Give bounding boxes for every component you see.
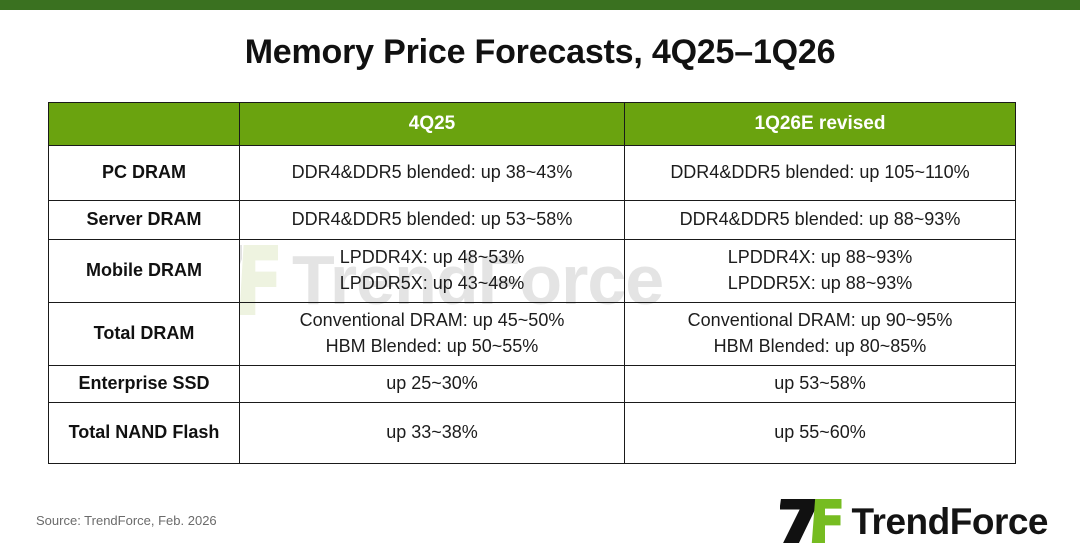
column-header-blank bbox=[49, 103, 240, 146]
cell-pc-dram-4q25: DDR4&DDR5 blended: up 38~43% bbox=[240, 146, 625, 201]
cell-line: LPDDR5X: up 43~48% bbox=[240, 271, 624, 297]
cell-line: Conventional DRAM: up 45~50% bbox=[240, 308, 624, 334]
cell-line: up 33~38% bbox=[240, 420, 624, 446]
logo-seven-shape-icon bbox=[780, 499, 816, 543]
row-label-line: Flash bbox=[172, 422, 219, 442]
cell-line: DDR4&DDR5 blended: up 105~110% bbox=[625, 160, 1015, 186]
cell-pc-dram-1q26e: DDR4&DDR5 blended: up 105~110% bbox=[625, 146, 1016, 201]
cell-line: LPDDR4X: up 88~93% bbox=[625, 245, 1015, 271]
cell-line: LPDDR4X: up 48~53% bbox=[240, 245, 624, 271]
table-row: Total DRAM Conventional DRAM: up 45~50% … bbox=[49, 303, 1016, 366]
cell-line: HBM Blended: up 50~55% bbox=[240, 334, 624, 360]
page-title: Memory Price Forecasts, 4Q25–1Q26 bbox=[0, 33, 1080, 72]
row-label-line: Total NAND bbox=[69, 422, 168, 442]
table-header: 4Q25 1Q26E revised bbox=[49, 103, 1016, 146]
row-label-total-dram: Total DRAM bbox=[49, 303, 240, 366]
row-label-pc-dram: PC DRAM bbox=[49, 146, 240, 201]
table-row: PC DRAM DDR4&DDR5 blended: up 38~43% DDR… bbox=[49, 146, 1016, 201]
row-label-enterprise-ssd: Enterprise SSD bbox=[49, 366, 240, 403]
cell-server-dram-1q26e: DDR4&DDR5 blended: up 88~93% bbox=[625, 201, 1016, 240]
cell-mobile-dram-1q26e: LPDDR4X: up 88~93% LPDDR5X: up 88~93% bbox=[625, 240, 1016, 303]
column-header-1q26e: 1Q26E revised bbox=[625, 103, 1016, 146]
trendforce-logo-icon bbox=[780, 497, 842, 545]
cell-line: LPDDR5X: up 88~93% bbox=[625, 271, 1015, 297]
cell-line: DDR4&DDR5 blended: up 38~43% bbox=[240, 160, 624, 186]
row-label-mobile-dram: Mobile DRAM bbox=[49, 240, 240, 303]
cell-line: up 25~30% bbox=[240, 371, 624, 397]
cell-server-dram-4q25: DDR4&DDR5 blended: up 53~58% bbox=[240, 201, 625, 240]
cell-total-nand-flash-4q25: up 33~38% bbox=[240, 403, 625, 464]
cell-line: Conventional DRAM: up 90~95% bbox=[625, 308, 1015, 334]
logo-wordmark: TrendForce bbox=[852, 503, 1049, 540]
row-label-total-nand-flash: Total NAND Flash bbox=[49, 403, 240, 464]
cell-line: up 55~60% bbox=[625, 420, 1015, 446]
slide-canvas: Memory Price Forecasts, 4Q25–1Q26 TrendF… bbox=[0, 0, 1080, 560]
cell-line: up 53~58% bbox=[625, 371, 1015, 397]
top-accent-bar bbox=[0, 0, 1080, 10]
source-note: Source: TrendForce, Feb. 2026 bbox=[36, 513, 217, 528]
cell-total-dram-1q26e: Conventional DRAM: up 90~95% HBM Blended… bbox=[625, 303, 1016, 366]
table-body: PC DRAM DDR4&DDR5 blended: up 38~43% DDR… bbox=[49, 146, 1016, 464]
cell-enterprise-ssd-4q25: up 25~30% bbox=[240, 366, 625, 403]
row-label-server-dram: Server DRAM bbox=[49, 201, 240, 240]
column-header-4q25: 4Q25 bbox=[240, 103, 625, 146]
cell-line: DDR4&DDR5 blended: up 88~93% bbox=[625, 207, 1015, 233]
memory-price-forecast-table: 4Q25 1Q26E revised PC DRAM DDR4&DDR5 ble… bbox=[48, 102, 1016, 464]
table-header-row: 4Q25 1Q26E revised bbox=[49, 103, 1016, 146]
table-row: Total NAND Flash up 33~38% up 55~60% bbox=[49, 403, 1016, 464]
cell-line: HBM Blended: up 80~85% bbox=[625, 334, 1015, 360]
table-row: Server DRAM DDR4&DDR5 blended: up 53~58%… bbox=[49, 201, 1016, 240]
table-row: Enterprise SSD up 25~30% up 53~58% bbox=[49, 366, 1016, 403]
table-row: Mobile DRAM LPDDR4X: up 48~53% LPDDR5X: … bbox=[49, 240, 1016, 303]
cell-line: DDR4&DDR5 blended: up 53~58% bbox=[240, 207, 624, 233]
cell-enterprise-ssd-1q26e: up 53~58% bbox=[625, 366, 1016, 403]
cell-mobile-dram-4q25: LPDDR4X: up 48~53% LPDDR5X: up 43~48% bbox=[240, 240, 625, 303]
cell-total-nand-flash-1q26e: up 55~60% bbox=[625, 403, 1016, 464]
trendforce-logo: TrendForce bbox=[780, 495, 1049, 547]
cell-total-dram-4q25: Conventional DRAM: up 45~50% HBM Blended… bbox=[240, 303, 625, 366]
